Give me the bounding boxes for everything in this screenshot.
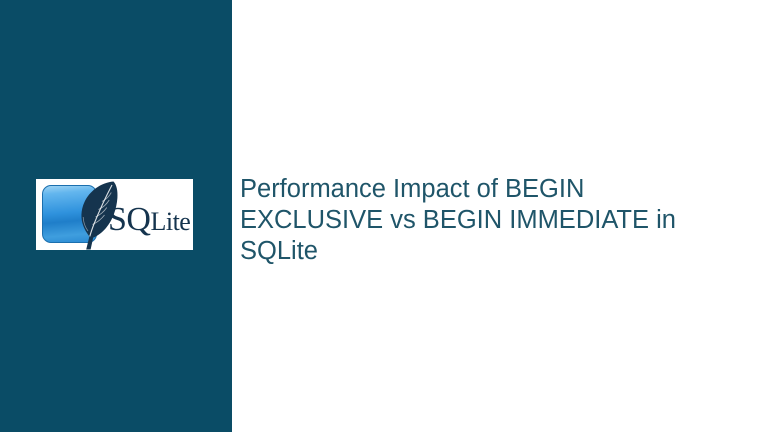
logo-wordmark-lite: Lite [150, 207, 190, 236]
logo-inner: SQLite [36, 179, 193, 250]
logo-wordmark: SQLite [108, 203, 193, 239]
sqlite-logo: SQLite [36, 179, 193, 250]
logo-wordmark-sq: SQ [108, 201, 150, 238]
slide-canvas: SQLite Performance Impact of BEGIN EXCLU… [0, 0, 768, 432]
slide-title: Performance Impact of BEGIN EXCLUSIVE vs… [240, 174, 686, 267]
